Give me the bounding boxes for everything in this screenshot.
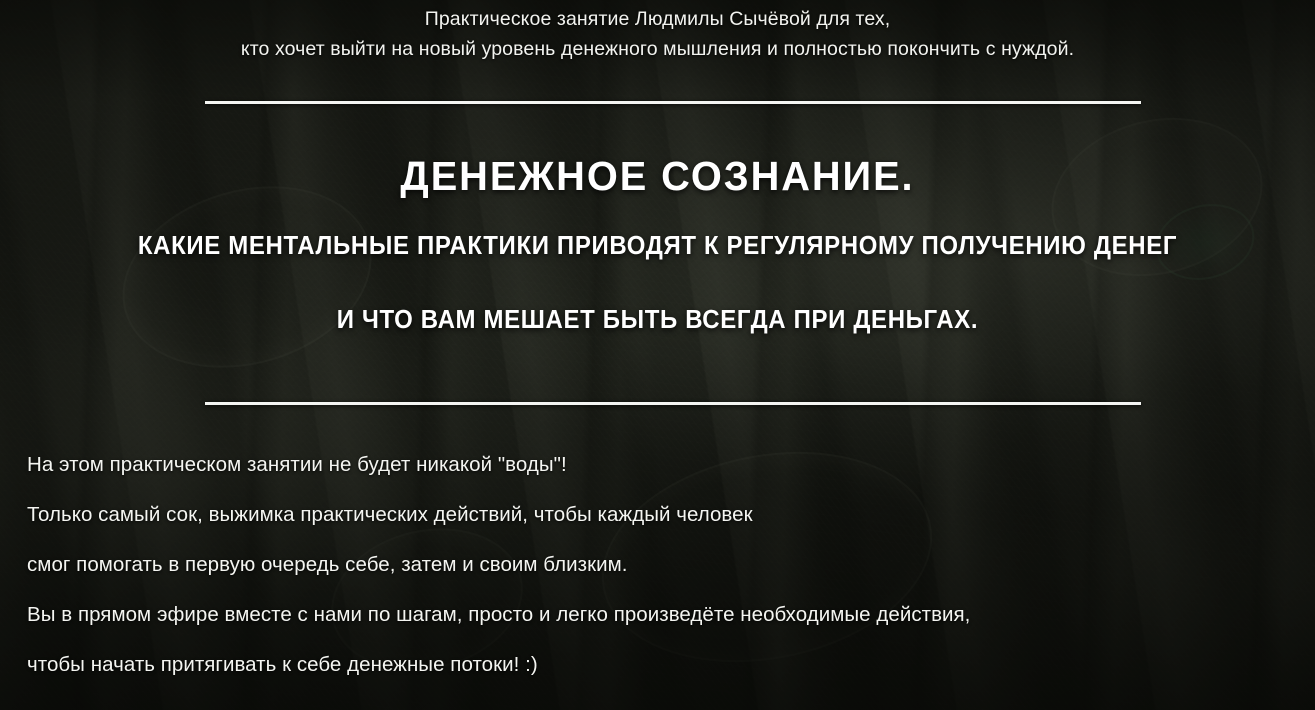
body-line: Вы в прямом эфире вместе с нами по шагам… (27, 590, 1295, 640)
promo-slide: Практическое занятие Людмилы Сычёвой для… (0, 0, 1315, 710)
body-line: Только самый сок, выжимка практических д… (27, 490, 1295, 540)
subtitle-line-2: И ЧТО ВАМ МЕШАЕТ БЫТЬ ВСЕГДА ПРИ ДЕНЬГАХ… (39, 302, 1275, 338)
body-line: чтобы начать притягивать к себе денежные… (27, 640, 1295, 690)
body-line: На этом практическом занятии не будет ни… (27, 440, 1295, 490)
title-block: ДЕНЕЖНОЕ СОЗНАНИЕ. КАКИЕ МЕНТАЛЬНЫЕ ПРАК… (0, 152, 1315, 338)
slide-content: Практическое занятие Людмилы Сычёвой для… (0, 0, 1315, 710)
divider-bottom (205, 402, 1141, 405)
divider-top (205, 101, 1141, 104)
kicker-text: Практическое занятие Людмилы Сычёвой для… (0, 4, 1315, 64)
page-title: ДЕНЕЖНОЕ СОЗНАНИЕ. (20, 152, 1296, 200)
kicker-line-2: кто хочет выйти на новый уровень денежно… (0, 34, 1315, 64)
subtitle-line-1: КАКИЕ МЕНТАЛЬНЫЕ ПРАКТИКИ ПРИВОДЯТ К РЕГ… (39, 228, 1275, 264)
body-line: смог помогать в первую очередь себе, зат… (27, 540, 1295, 590)
kicker-line-1: Практическое занятие Людмилы Сычёвой для… (425, 8, 891, 30)
body-copy: На этом практическом занятии не будет ни… (27, 440, 1295, 690)
